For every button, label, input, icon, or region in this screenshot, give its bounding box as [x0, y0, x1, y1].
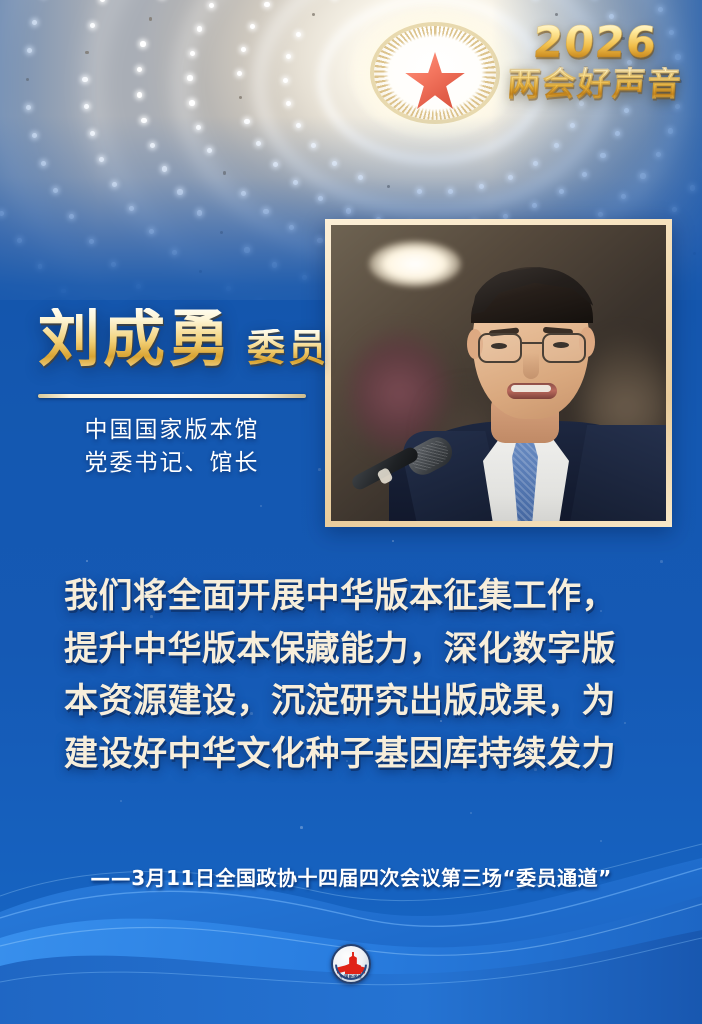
speaker-affiliation: 中国国家版本馆 党委书记、馆长 — [38, 414, 306, 479]
affiliation-line-1: 中国国家版本馆 — [38, 414, 306, 447]
speaker-role: 委员 — [247, 329, 329, 370]
quote-attribution: ——3月11日全国政协十四届四次会议第三场“委员通道” — [0, 862, 702, 891]
campaign-logo: 2026 两会好声音 — [506, 22, 684, 114]
news-agency-emblem: 中国新闻社 — [331, 944, 371, 984]
speaker-name: 刘成勇 — [38, 308, 233, 370]
glasses-lens-left — [478, 333, 522, 363]
emblem-caption: 中国新闻社 — [333, 974, 369, 980]
person-nose — [523, 353, 539, 379]
quote-text: 我们将全面开展中华版本征集工作，提升中华版本保藏能力，深化数字版本资源建设，沉淀… — [64, 570, 642, 781]
microphone-icon — [343, 441, 455, 503]
photo-ceiling-lamp — [369, 241, 461, 287]
gold-divider — [38, 394, 306, 398]
campaign-year: 2026 — [504, 22, 685, 65]
speaker-photo-frame — [325, 219, 672, 527]
poster-root: 2026 两会好声音 — [0, 0, 702, 1024]
glasses-lens-right — [542, 333, 586, 363]
campaign-slogan: 两会好声音 — [505, 67, 685, 100]
person-teeth — [511, 385, 551, 392]
glasses-bridge — [522, 342, 542, 344]
speaker-photo — [331, 225, 666, 521]
speaker-name-row: 刘成勇 委员 — [38, 308, 329, 370]
affiliation-line-2: 党委书记、馆长 — [38, 447, 306, 480]
